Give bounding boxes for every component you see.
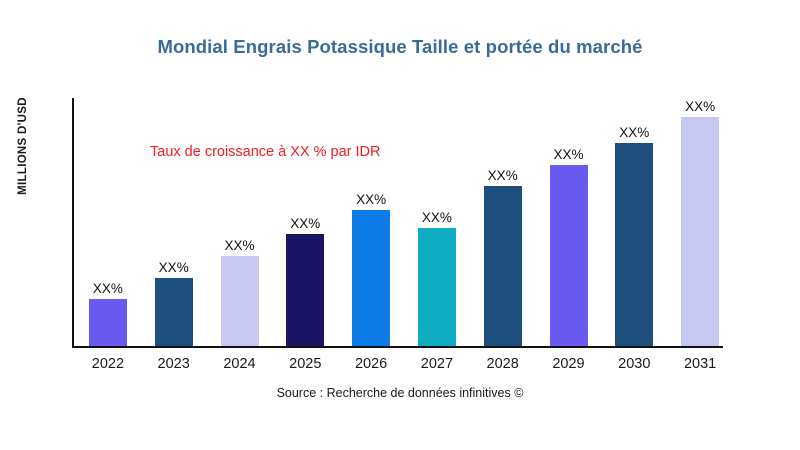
x-axis-line bbox=[72, 346, 723, 348]
bar-group[interactable]: XX% bbox=[352, 186, 390, 346]
bar-value-label-2030: XX% bbox=[619, 125, 649, 140]
bar-chart: Mondial Engrais Potassique Taille et por… bbox=[0, 0, 800, 450]
bar-2024[interactable] bbox=[221, 256, 259, 346]
x-tick-2031: 2031 bbox=[670, 356, 730, 372]
bar-2028[interactable] bbox=[484, 186, 522, 346]
bar-value-label-2026: XX% bbox=[356, 192, 386, 207]
bar-2026[interactable] bbox=[352, 210, 390, 346]
x-tick-2030: 2030 bbox=[604, 356, 664, 372]
bar-group[interactable]: XX% bbox=[550, 141, 588, 346]
bar-2022[interactable] bbox=[89, 299, 127, 346]
bar-2027[interactable] bbox=[418, 228, 456, 346]
bar-group[interactable]: XX% bbox=[615, 119, 653, 346]
bar-value-label-2031: XX% bbox=[685, 99, 715, 114]
x-tick-2026: 2026 bbox=[341, 356, 401, 372]
bar-group[interactable]: XX% bbox=[155, 254, 193, 346]
x-tick-2024: 2024 bbox=[210, 356, 270, 372]
bar-2025[interactable] bbox=[286, 234, 324, 346]
bar-2031[interactable] bbox=[681, 117, 719, 346]
bar-2030[interactable] bbox=[615, 143, 653, 346]
bar-value-label-2025: XX% bbox=[290, 216, 320, 231]
bar-group[interactable]: XX% bbox=[484, 162, 522, 346]
x-tick-2029: 2029 bbox=[539, 356, 599, 372]
chart-title: Mondial Engrais Potassique Taille et por… bbox=[0, 36, 800, 58]
bar-value-label-2024: XX% bbox=[224, 238, 254, 253]
x-tick-2023: 2023 bbox=[144, 356, 204, 372]
y-axis-title: MILLIONS D'USD bbox=[17, 56, 29, 236]
bar-group[interactable]: XX% bbox=[681, 93, 719, 346]
bar-group[interactable]: XX% bbox=[89, 275, 127, 346]
x-tick-2022: 2022 bbox=[78, 356, 138, 372]
growth-rate-annotation: Taux de croissance à XX % par IDR bbox=[150, 144, 381, 160]
bar-value-label-2022: XX% bbox=[93, 281, 123, 296]
bar-2023[interactable] bbox=[155, 278, 193, 346]
bar-group[interactable]: XX% bbox=[418, 204, 456, 346]
plot-area: XX%XX%XX%XX%XX%XX%XX%XX%XX%XX% bbox=[72, 98, 730, 348]
bar-2029[interactable] bbox=[550, 165, 588, 346]
bar-value-label-2028: XX% bbox=[488, 168, 518, 183]
x-tick-2028: 2028 bbox=[473, 356, 533, 372]
bar-value-label-2029: XX% bbox=[553, 147, 583, 162]
bar-value-label-2027: XX% bbox=[422, 210, 452, 225]
x-tick-2027: 2027 bbox=[407, 356, 467, 372]
bar-group[interactable]: XX% bbox=[221, 232, 259, 346]
bar-value-label-2023: XX% bbox=[159, 260, 189, 275]
source-caption: Source : Recherche de données infinitive… bbox=[0, 386, 800, 400]
y-axis-line bbox=[72, 98, 74, 348]
bar-group[interactable]: XX% bbox=[286, 210, 324, 346]
x-tick-2025: 2025 bbox=[275, 356, 335, 372]
